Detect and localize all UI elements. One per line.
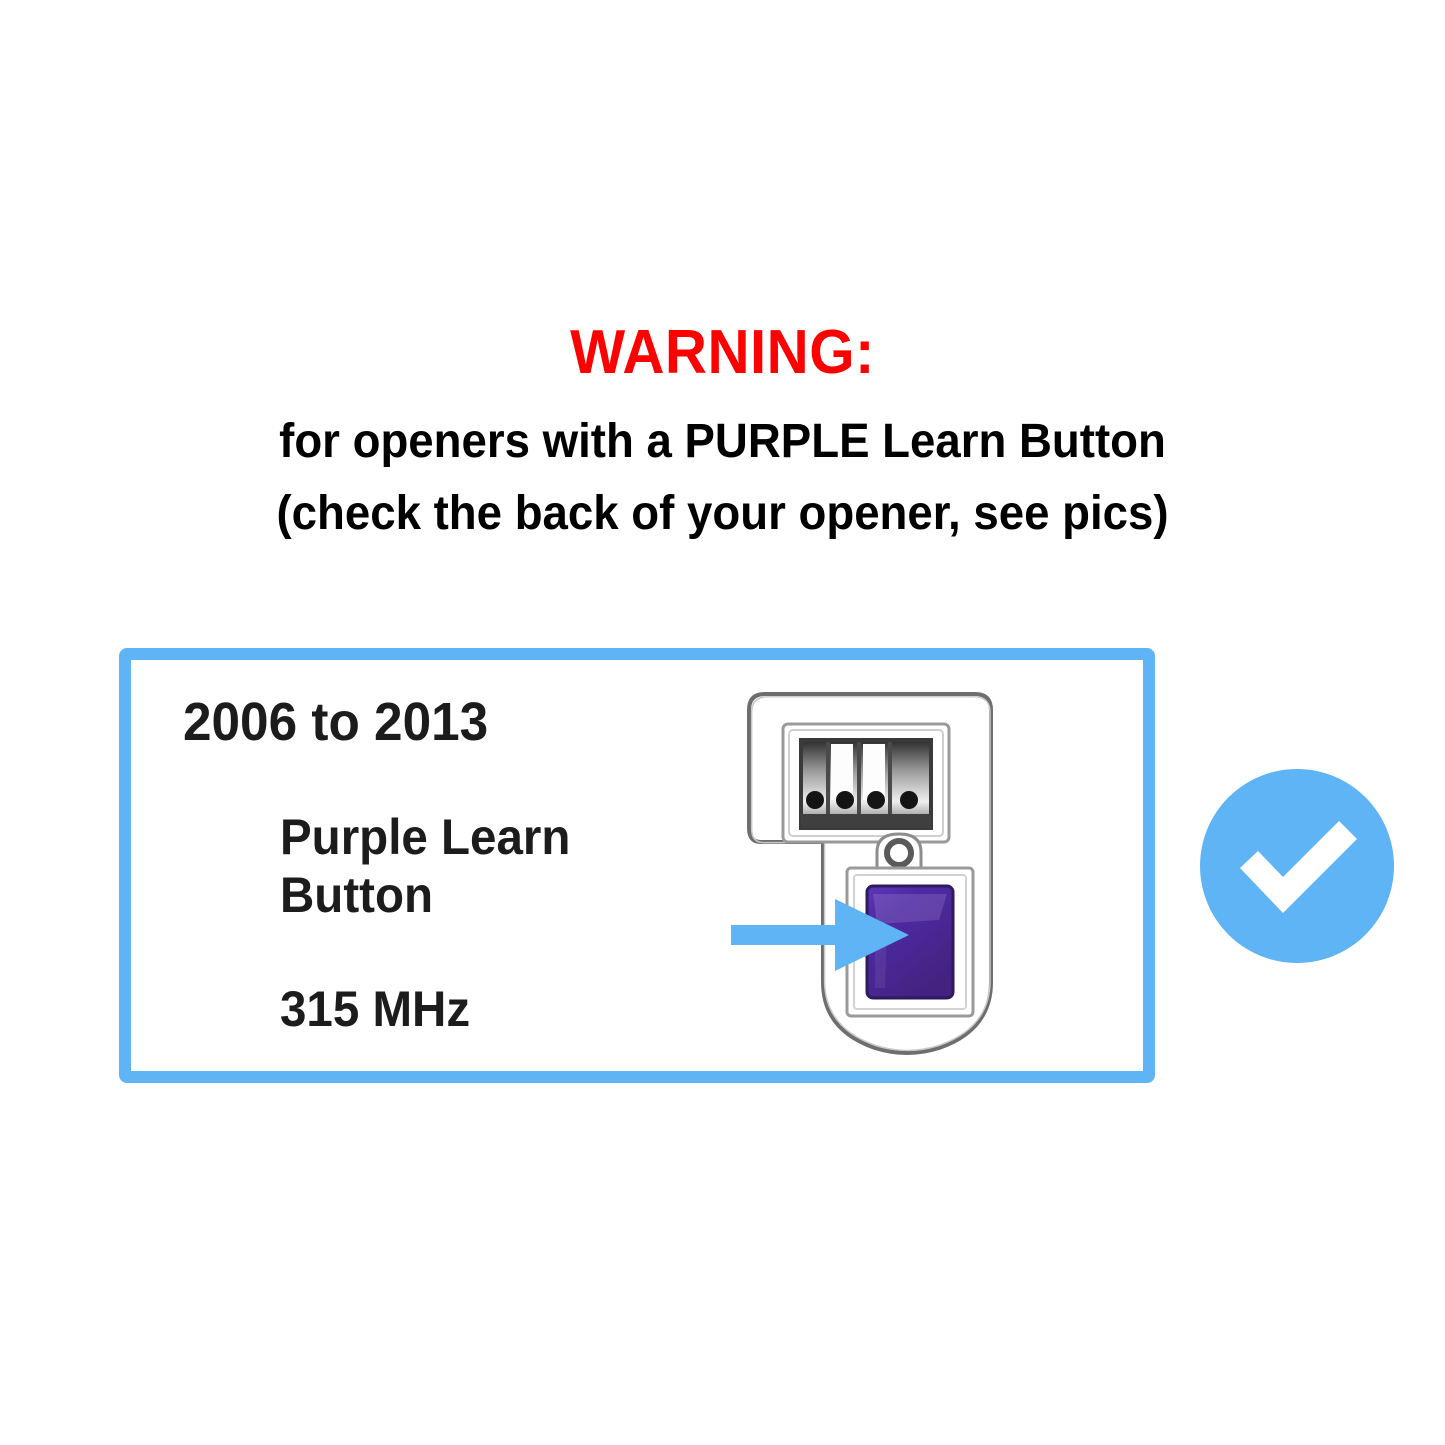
learn-button-label: Purple Learn Button (280, 808, 701, 924)
years-range-label: 2006 to 2013 (183, 692, 696, 752)
card-text-column: 2006 to 2013 Purple Learn Button 315 MHz (183, 692, 723, 1038)
approved-check-badge (1196, 765, 1398, 967)
led-indicator-icon (887, 841, 911, 865)
pointer-arrow (731, 895, 911, 975)
learn-button-label-line-1: Purple Learn (280, 809, 570, 865)
warning-subtitle-line-2: (check the back of your opener, see pics… (36, 478, 1409, 550)
opener-info-card: 2006 to 2013 Purple Learn Button 315 MHz (119, 648, 1155, 1083)
warning-header: WARNING: for openers with a PURPLE Learn… (0, 318, 1445, 550)
learn-button-label-line-2: Button (280, 867, 433, 923)
frequency-label: 315 MHz (280, 980, 701, 1038)
card-indented-details: Purple Learn Button 315 MHz (280, 808, 723, 1038)
warning-title: WARNING: (43, 318, 1401, 388)
check-circle-icon (1196, 765, 1398, 967)
right-arrow-icon (731, 895, 911, 975)
opener-rear-panel-illustration (727, 682, 1037, 1062)
warning-subtitle-line-1: for openers with a PURPLE Learn Button (36, 406, 1409, 478)
poster-canvas: WARNING: for openers with a PURPLE Learn… (0, 0, 1445, 1445)
opener-photo (727, 682, 1037, 1062)
